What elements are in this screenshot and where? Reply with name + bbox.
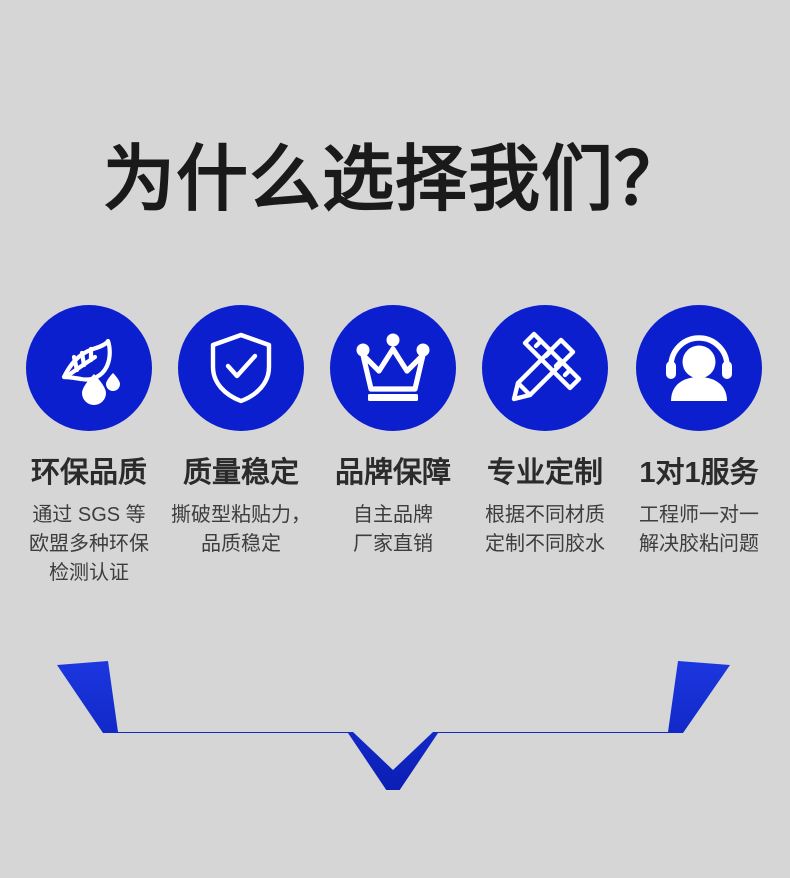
feature-description: 根据不同材质 定制不同胶水 [485,501,605,559]
shield-check-icon [178,305,304,431]
feature-title: 质量稳定 [183,456,299,490]
feature-item-quality: 质量稳定 撕破型粘贴力， 品质稳定 [166,305,316,559]
promo-banner-page: 为什么选择我们？ 环保品质 通过 SGS 等 欧盟多种环保 [0,0,790,878]
feature-item-eco: 环保品质 通过 SGS 等 欧盟多种环保 检测认证 [14,305,164,588]
feature-item-service: 1对1服务 工程师一对一 解决胶粘问题 [622,305,776,559]
feature-item-custom: 专业定制 根据不同材质 定制不同胶水 [470,305,620,559]
crown-icon [330,305,456,431]
feature-description: 自主品牌 厂家直销 [353,501,433,559]
feature-title: 环保品质 [31,456,147,490]
feature-description: 撕破型粘贴力， 品质稳定 [171,501,311,559]
feature-title: 专业定制 [487,456,603,490]
page-title: 为什么选择我们？ [0,138,790,222]
feature-list: 环保品质 通过 SGS 等 欧盟多种环保 检测认证 质量稳定 撕破型粘贴力， 品… [14,305,776,588]
leaf-water-drop-icon [26,305,152,431]
feature-title: 1对1服务 [639,456,758,490]
blue-wing-decoration [0,640,790,790]
headset-support-icon [636,305,762,431]
feature-title: 品牌保障 [335,456,451,490]
feature-description: 通过 SGS 等 欧盟多种环保 检测认证 [29,501,149,588]
feature-description: 工程师一对一 解决胶粘问题 [639,501,759,559]
pencil-ruler-icon [482,305,608,431]
feature-item-brand: 品牌保障 自主品牌 厂家直销 [318,305,468,559]
